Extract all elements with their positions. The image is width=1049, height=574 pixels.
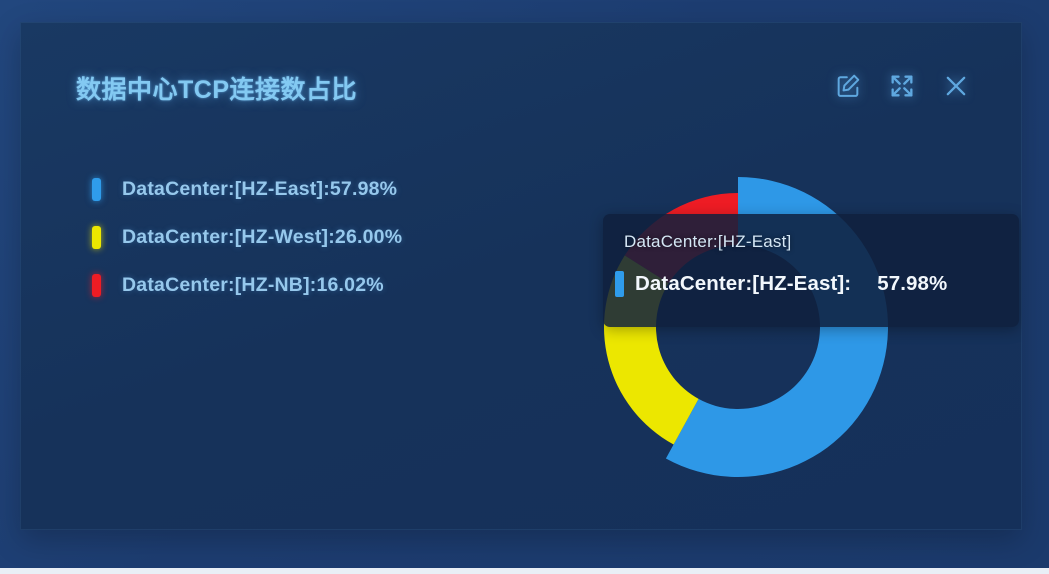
legend-color-swatch <box>92 274 101 297</box>
page-title: 数据中心TCP连接数占比 <box>76 70 357 106</box>
panel-header: 数据中心TCP连接数占比 <box>20 22 1022 126</box>
tooltip-series-value: 57.98% <box>877 272 947 296</box>
chart-tooltip: DataCenter:[HZ-East] DataCenter:[HZ-East… <box>603 214 1019 327</box>
tooltip-color-swatch <box>615 271 624 297</box>
edit-icon[interactable] <box>834 72 862 100</box>
fullscreen-icon[interactable] <box>888 72 916 100</box>
legend-item-label: DataCenter:[HZ-West]:26.00% <box>122 226 402 249</box>
legend-item-hz-nb[interactable]: DataCenter:[HZ-NB]:16.02% <box>92 261 532 309</box>
legend-color-swatch <box>92 178 101 201</box>
legend-item-hz-west[interactable]: DataCenter:[HZ-West]:26.00% <box>92 213 532 261</box>
legend-item-label: DataCenter:[HZ-NB]:16.02% <box>122 274 384 297</box>
legend-item-label: DataCenter:[HZ-East]:57.98% <box>122 178 397 201</box>
close-icon[interactable] <box>942 72 970 100</box>
panel-toolbar <box>834 72 970 100</box>
tooltip-series-name: DataCenter:[HZ-East]: <box>635 272 851 296</box>
chart-legend: DataCenter:[HZ-East]:57.98% DataCenter:[… <box>92 165 532 309</box>
chart-widget-panel: 数据中心TCP连接数占比 <box>20 22 1022 530</box>
tooltip-series-row: DataCenter:[HZ-East]: 57.98% <box>615 271 947 297</box>
legend-color-swatch <box>92 226 101 249</box>
legend-item-hz-east[interactable]: DataCenter:[HZ-East]:57.98% <box>92 165 532 213</box>
page-background: 数据中心TCP连接数占比 <box>0 0 1049 574</box>
tooltip-title: DataCenter:[HZ-East] <box>624 232 791 252</box>
